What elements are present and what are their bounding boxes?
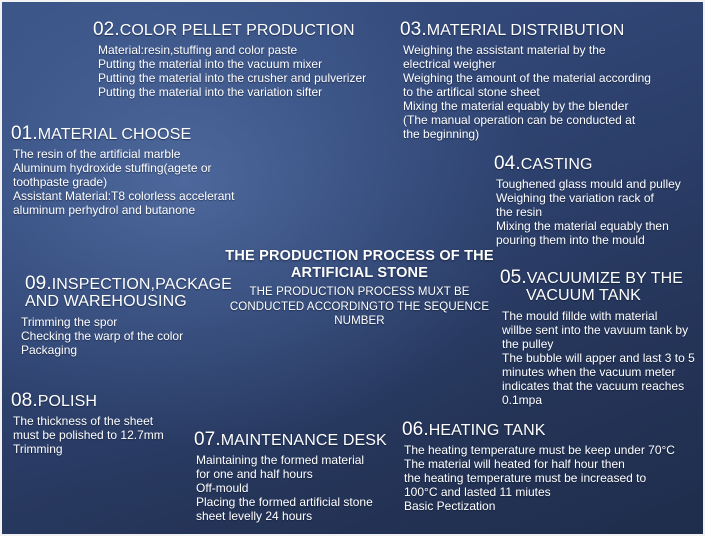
step-02-number: 02 xyxy=(93,19,114,40)
poster-subtitle-line-1: THE PRODUCTION PROCESS MUXT BE xyxy=(249,286,469,298)
step-09-title-line-2: AND WAREHOUSING xyxy=(25,294,234,311)
step-01-title: MATERIAL CHOOSE xyxy=(38,126,192,143)
step-03-line-2: electrical weigher xyxy=(403,57,651,71)
step-07-line-2: for one and half hours xyxy=(196,467,387,481)
process-step-05: 05.VACUUMIZE BY THE VACUUM TANK The moul… xyxy=(500,268,705,407)
step-04-line-5: pouring them into the mould xyxy=(496,233,681,247)
step-08-line-3: Trimming xyxy=(13,442,164,456)
step-06-line-2: The material will heated for half hour t… xyxy=(404,457,675,471)
step-03-line-6: (The manual operation can be conducted a… xyxy=(403,113,651,127)
step-06-line-3: the heating temperature must be increase… xyxy=(404,471,675,485)
step-01-line-3: toothpaste grade) xyxy=(13,175,234,189)
process-step-04: 04.CASTING Toughened glass mould and pul… xyxy=(494,154,681,247)
process-step-02: 02.COLOR PELLET PRODUCTION Material:resi… xyxy=(93,20,366,99)
step-02-body: Material:resin,stuffing and color paste … xyxy=(98,43,366,99)
step-05-line-7: 0.1mpa xyxy=(502,393,705,407)
step-03-line-7: the beginning) xyxy=(403,127,651,141)
process-diagram-poster: 02.COLOR PELLET PRODUCTION Material:resi… xyxy=(0,0,705,536)
step-05-line-4: The bubble will apper and last 3 to 5 xyxy=(502,351,705,365)
step-03-number: 03 xyxy=(400,19,421,40)
step-06-title: HEATING TANK xyxy=(429,422,546,439)
step-03-line-4: to the artifical stone sheet xyxy=(403,85,651,99)
step-09-line-3: Packaging xyxy=(21,343,234,357)
step-01-line-5: aluminum perhydrol and butanone xyxy=(13,203,234,217)
step-07-heading: 07.MAINTENANCE DESK xyxy=(194,430,387,450)
process-step-06: 06.HEATING TANK The heating temperature … xyxy=(402,420,675,513)
step-05-title-line-2: VACUUM TANK xyxy=(500,288,705,305)
step-03-body: Weighing the assistant material by the e… xyxy=(403,43,651,142)
step-08-heading: 08.POLISH xyxy=(11,391,164,411)
step-03-line-3: Weighing the amount of the material acco… xyxy=(403,71,651,85)
step-05-line-1: The mould fillde with material xyxy=(502,309,705,323)
step-02-heading: 02.COLOR PELLET PRODUCTION xyxy=(93,20,366,40)
step-04-line-3: the resin xyxy=(496,205,681,219)
step-06-line-5: Basic Pectization xyxy=(404,499,675,513)
step-01-line-2: Aluminum hydroxide stuffing(agete or xyxy=(13,161,234,175)
step-09-line-1: Trimming the spor xyxy=(21,315,234,329)
step-05-title: VACUUMIZE BY THE xyxy=(527,270,683,287)
step-05-line-3: the pulley xyxy=(502,337,705,351)
step-06-line-4: 100°C and lasted 11 miutes xyxy=(404,485,675,499)
step-08-title: POLISH xyxy=(38,393,97,410)
process-step-08: 08.POLISH The thickness of the sheet mus… xyxy=(11,391,164,456)
step-07-line-5: sheet levelly 24 hours xyxy=(196,509,387,523)
step-05-body: The mould fillde with material willbe se… xyxy=(502,309,705,408)
step-02-title: COLOR PELLET PRODUCTION xyxy=(120,22,355,39)
step-09-heading: 09.INSPECTION,PACKAGE AND WAREHOUSING xyxy=(19,274,234,311)
step-07-title: MAINTENANCE DESK xyxy=(221,432,387,449)
step-02-line-2: Putting the material into the vacuum mix… xyxy=(98,57,366,71)
step-09-number: 09 xyxy=(25,273,46,294)
step-05-line-6: indicates that the vacuum reaches xyxy=(502,379,705,393)
step-04-body: Toughened glass mould and pulley Weighin… xyxy=(496,177,681,247)
step-03-line-5: Mixing the material equably by the blend… xyxy=(403,99,651,113)
step-05-line-2: willbe sent into the vavuum tank by xyxy=(502,323,705,337)
step-05-number: 05 xyxy=(500,267,521,288)
step-04-line-2: Weighing the variation rack of xyxy=(496,191,681,205)
step-03-heading: 03.MATERIAL DISTRIBUTION xyxy=(400,20,651,40)
step-07-line-1: Maintaining the formed material xyxy=(196,453,387,467)
step-04-heading: 04.CASTING xyxy=(494,154,681,174)
step-02-line-1: Material:resin,stuffing and color paste xyxy=(98,43,366,57)
step-04-title: CASTING xyxy=(521,156,593,173)
poster-main-title-line-1: THE PRODUCTION PROCESS OF xyxy=(225,248,460,264)
step-06-body: The heating temperature must be keep und… xyxy=(404,443,675,513)
step-08-line-1: The thickness of the sheet xyxy=(13,414,164,428)
step-01-body: The resin of the artificial marble Alumi… xyxy=(13,147,234,217)
process-step-03: 03.MATERIAL DISTRIBUTION Weighing the as… xyxy=(400,20,651,141)
step-09-body: Trimming the spor Checking the warp of t… xyxy=(21,315,234,357)
step-01-line-1: The resin of the artificial marble xyxy=(13,147,234,161)
step-03-title: MATERIAL DISTRIBUTION xyxy=(427,22,625,39)
step-07-body: Maintaining the formed material for one … xyxy=(196,453,387,523)
step-07-number: 07 xyxy=(194,429,215,450)
step-07-line-4: Placing the formed artificial stone xyxy=(196,495,387,509)
step-01-heading: 01.MATERIAL CHOOSE xyxy=(11,124,234,144)
step-05-heading: 05.VACUUMIZE BY THE VACUUM TANK xyxy=(500,268,705,305)
process-step-01: 01.MATERIAL CHOOSE The resin of the arti… xyxy=(11,124,234,217)
step-09-line-2: Checking the warp of the color xyxy=(21,329,234,343)
step-08-line-2: must be polished to 12.7mm xyxy=(13,428,164,442)
step-07-line-3: Off-mould xyxy=(196,481,387,495)
step-03-line-1: Weighing the assistant material by the xyxy=(403,43,651,57)
poster-subtitle-line-2: CONDUCTED ACCORDINGTO THE xyxy=(230,301,421,313)
process-step-09: 09.INSPECTION,PACKAGE AND WAREHOUSING Tr… xyxy=(19,274,234,357)
step-05-line-5: minutes when the vacuum meter xyxy=(502,365,705,379)
poster-main-title: THE PRODUCTION PROCESS OF THE ARTIFICIAL… xyxy=(217,248,502,281)
poster-subtitle: THE PRODUCTION PROCESS MUXT BE CONDUCTED… xyxy=(217,285,502,329)
step-06-number: 06 xyxy=(402,419,423,440)
step-08-body: The thickness of the sheet must be polis… xyxy=(13,414,164,456)
step-04-line-4: Mixing the material equably then xyxy=(496,219,681,233)
step-02-line-3: Putting the material into the crusher an… xyxy=(98,71,366,85)
process-step-07: 07.MAINTENANCE DESK Maintaining the form… xyxy=(194,430,387,523)
step-01-line-4: Assistant Material:T8 colorless accelera… xyxy=(13,189,234,203)
step-09-title: INSPECTION,PACKAGE xyxy=(52,276,232,293)
step-01-number: 01 xyxy=(11,123,32,144)
step-08-number: 08 xyxy=(11,390,32,411)
step-04-number: 04 xyxy=(494,153,515,174)
step-06-heading: 06.HEATING TANK xyxy=(402,420,675,440)
step-06-line-1: The heating temperature must be keep und… xyxy=(404,443,675,457)
step-04-line-1: Toughened glass mould and pulley xyxy=(496,177,681,191)
step-02-line-4: Putting the material into the variation … xyxy=(98,85,366,99)
poster-center-title: THE PRODUCTION PROCESS OF THE ARTIFICIAL… xyxy=(217,248,502,329)
